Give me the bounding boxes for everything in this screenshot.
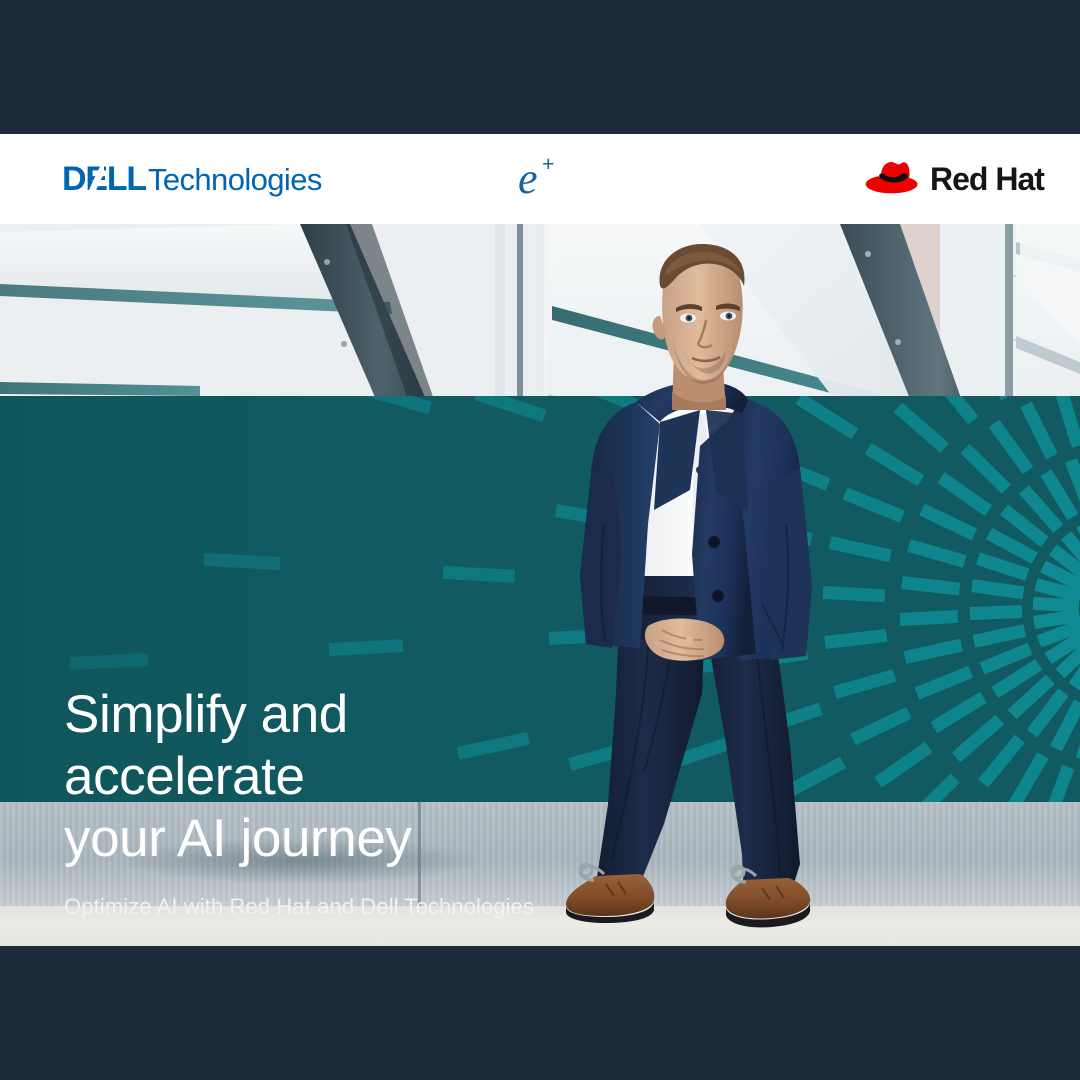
eplus-wordmark: e + — [518, 157, 538, 201]
eplus-letter: e — [518, 154, 538, 203]
logo-red-hat[interactable]: Red Hat — [864, 134, 1044, 224]
letterbox-bar-top — [0, 0, 1080, 134]
eplus-superscript: + — [542, 153, 555, 175]
logo-eplus[interactable]: e + — [518, 134, 538, 224]
hero-photo: Simplify and accelerate your AI journey … — [0, 224, 1080, 946]
red-hat-fedora-icon — [864, 156, 920, 203]
dell-technologies-label: Technologies — [148, 164, 322, 195]
logo-bar: DELL Technologies e + — [0, 134, 1080, 224]
letterbox-bar-bottom — [0, 946, 1080, 1080]
hero-banner: DELL Technologies e + — [0, 0, 1080, 1080]
dell-mark-text: DELL — [62, 160, 146, 198]
dell-wordmark: DELL — [62, 162, 146, 196]
page-subtitle: Optimize AI with Red Hat and Dell Techno… — [64, 894, 584, 920]
page-title: Simplify and accelerate your AI journey — [64, 684, 584, 870]
hero-copy: Simplify and accelerate your AI journey … — [64, 684, 584, 920]
logo-dell-technologies[interactable]: DELL Technologies — [62, 134, 322, 224]
red-hat-label: Red Hat — [930, 163, 1044, 195]
